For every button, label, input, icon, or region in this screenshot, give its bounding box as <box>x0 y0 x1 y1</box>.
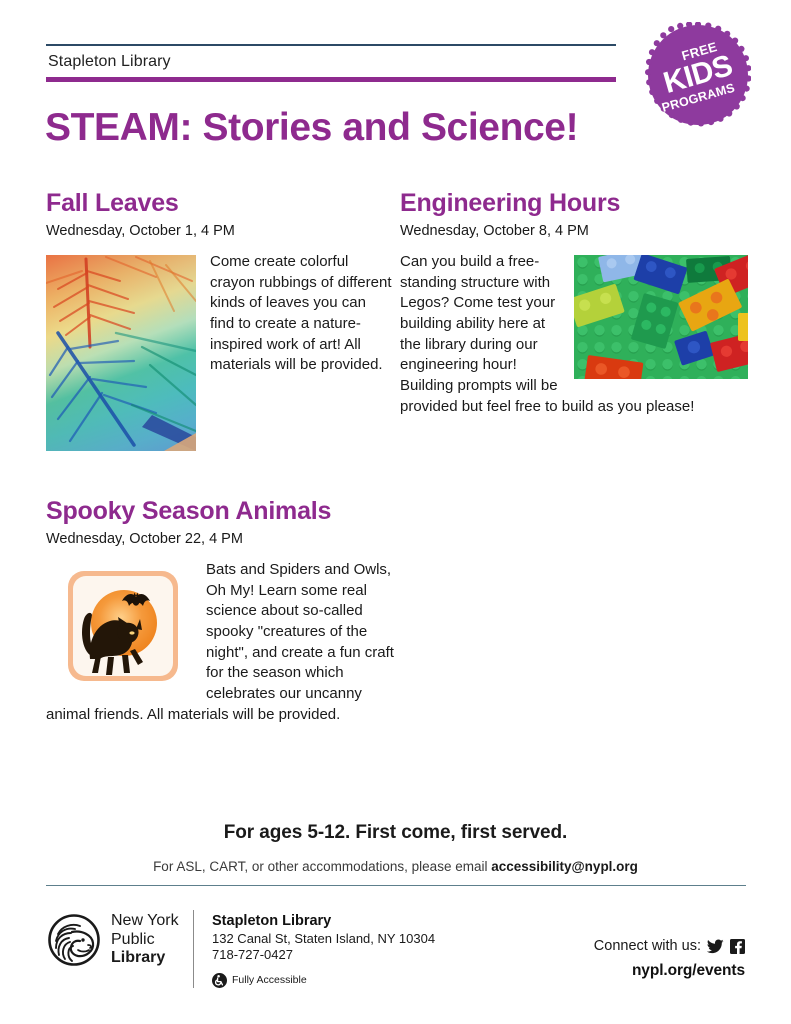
event-description-block: Can you build a free-standing structure … <box>400 252 748 418</box>
wordmark-line-1: New York <box>111 912 179 931</box>
accommodations-prefix: For ASL, CART, or other accommodations, … <box>153 859 491 874</box>
nypl-lion-icon <box>48 914 100 966</box>
accessibility-label: Fully Accessible <box>232 974 307 987</box>
leaf-crayon-rubbing-photo <box>46 255 196 451</box>
connect-row: Connect with us: <box>594 938 745 954</box>
leaf-vein-lines-icon <box>46 255 196 451</box>
branch-address: 132 Canal St, Staten Island, NY 10304 <box>212 931 435 948</box>
accessibility-row: Fully Accessible <box>212 973 435 988</box>
free-kids-programs-badge: FREE KIDS PROGRAMS <box>645 22 751 128</box>
halloween-cat-bat-illustration <box>60 563 186 689</box>
event-title: Spooky Season Animals <box>46 498 394 526</box>
cat-and-bat-moon-icon <box>60 563 186 689</box>
nypl-logo: New York Public Library <box>48 912 179 968</box>
header-branch-name: Stapleton Library <box>46 46 616 77</box>
badge-starburst-icon <box>645 22 751 128</box>
event-date: Wednesday, October 22, 4 PM <box>46 531 394 548</box>
twitter-icon[interactable] <box>707 939 724 954</box>
event-description-block: Bats and Spiders and Owls, Oh My! Learn … <box>46 560 394 726</box>
footer-divider-rule <box>46 885 746 886</box>
event-date: Wednesday, October 8, 4 PM <box>400 223 748 240</box>
accessibility-email[interactable]: accessibility@nypl.org <box>491 859 638 874</box>
header-rule-bottom <box>46 77 616 82</box>
nypl-events-url[interactable]: nypl.org/events <box>594 962 745 980</box>
branch-phone: 718-727-0427 <box>212 947 435 964</box>
event-title: Engineering Hours <box>400 190 748 218</box>
wheelchair-icon <box>212 973 227 988</box>
nypl-wordmark: New York Public Library <box>111 912 179 968</box>
footer-vertical-divider <box>193 910 194 988</box>
event-description-block: Come create colorful crayon rubbings of … <box>46 252 394 376</box>
lego-bricks-photo <box>574 255 748 379</box>
event-card-engineering-hours: Engineering Hours Wednesday, October 8, … <box>400 190 748 417</box>
branch-info-block: Stapleton Library 132 Canal St, Staten I… <box>212 912 435 988</box>
event-card-fall-leaves: Fall Leaves Wednesday, October 1, 4 PM <box>46 190 394 453</box>
event-date: Wednesday, October 1, 4 PM <box>46 223 394 240</box>
flyer-page: Stapleton Library STEAM: Stories and Sci… <box>0 0 791 1024</box>
branch-name: Stapleton Library <box>212 912 435 931</box>
wordmark-line-2: Public <box>111 931 179 950</box>
page-title: STEAM: Stories and Science! <box>45 106 578 150</box>
ages-note: For ages 5-12. First come, first served. <box>0 822 791 844</box>
connect-label: Connect with us: <box>594 938 701 954</box>
event-title: Fall Leaves <box>46 190 394 218</box>
event-description: Come create colorful crayon rubbings of … <box>210 253 392 373</box>
lego-bricks-illustration-icon <box>574 255 748 379</box>
wordmark-line-3: Library <box>111 949 179 968</box>
connect-block: Connect with us: nypl.org/events <box>594 938 745 980</box>
facebook-icon[interactable] <box>730 939 745 954</box>
accommodations-note: For ASL, CART, or other accommodations, … <box>0 859 791 874</box>
event-card-spooky-season-animals: Spooky Season Animals Wednesday, October… <box>46 498 394 725</box>
flyer-header: Stapleton Library <box>46 44 616 82</box>
